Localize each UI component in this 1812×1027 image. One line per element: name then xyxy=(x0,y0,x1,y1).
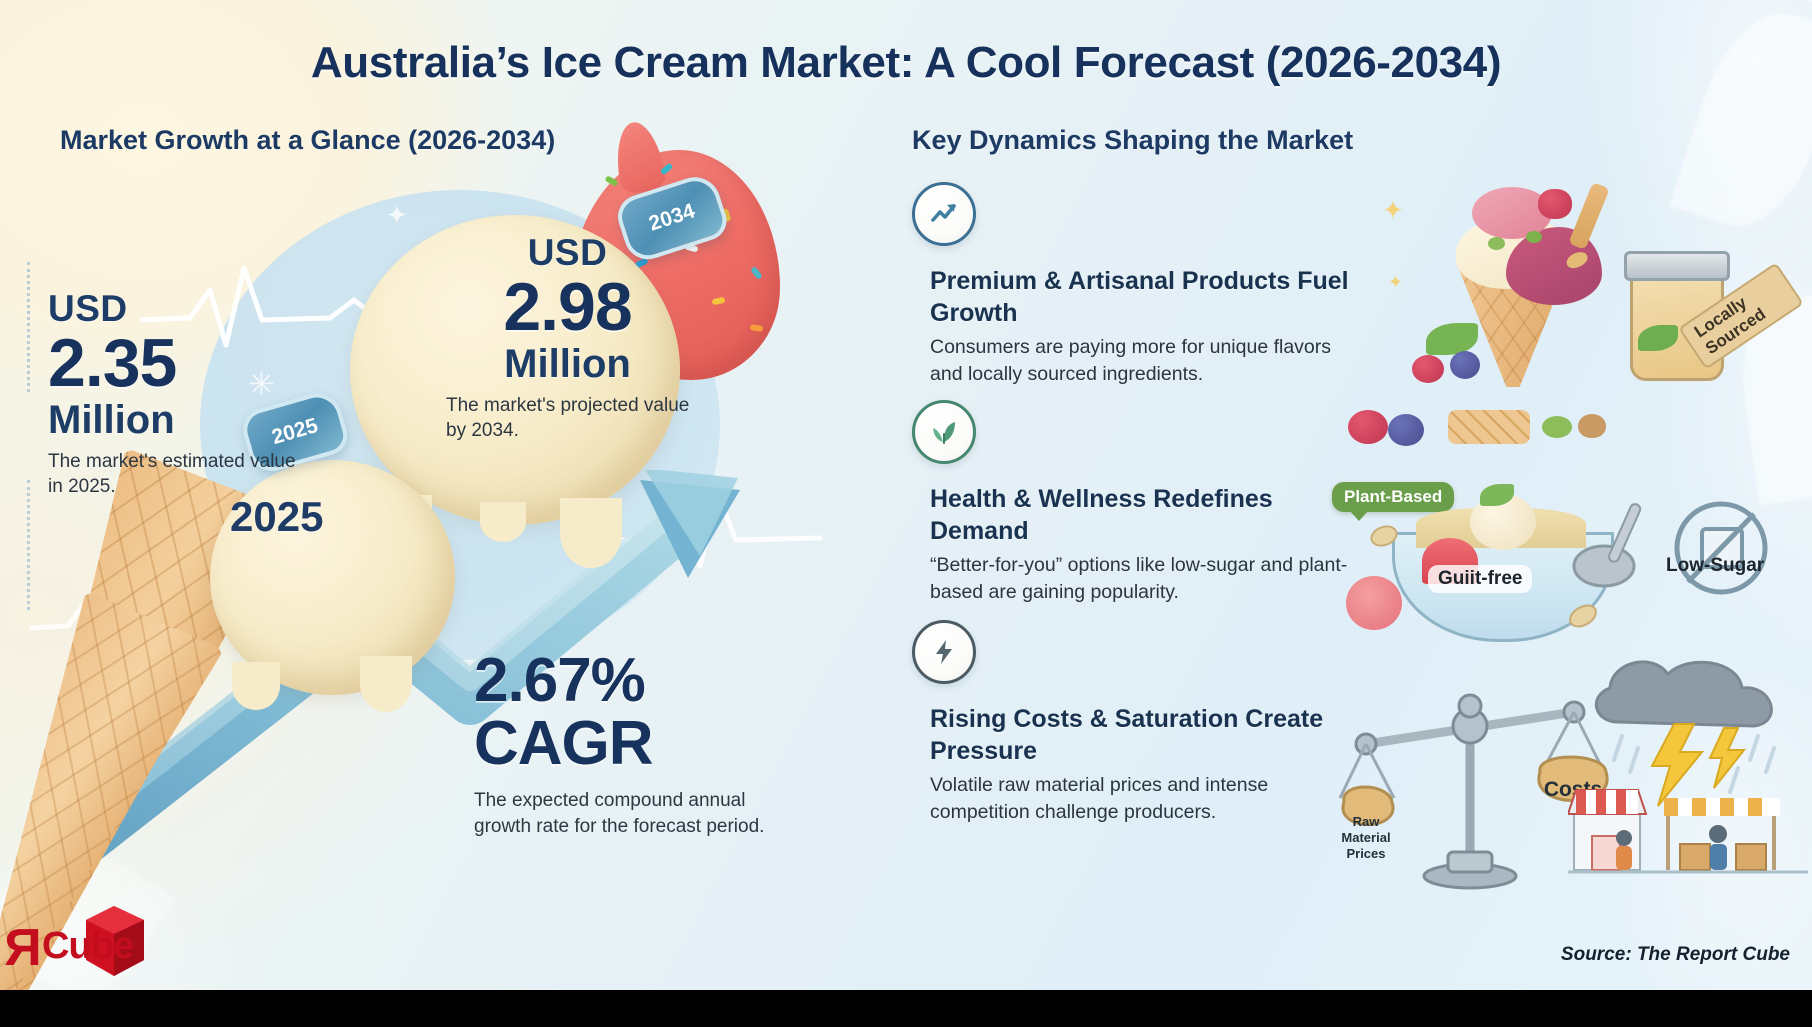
dotted-connector xyxy=(27,480,30,610)
dynamic-title-3: Rising Costs & Saturation Create Pressur… xyxy=(930,704,1350,767)
stat-unit-2025: Million xyxy=(48,397,308,443)
year-label-2025: 2025 xyxy=(230,493,323,541)
dynamic-body-3: Volatile raw material prices and intense… xyxy=(930,772,1350,825)
berry-blueberry xyxy=(1450,351,1480,379)
illustration-health: Plant-Based Guiit-free Low-Sugar xyxy=(1330,410,1800,640)
right-section-heading: Key Dynamics Shaping the Market xyxy=(912,123,1532,159)
stat-caption-2025: The market's estimated value in 2025. xyxy=(48,449,308,500)
svg-text:Raw: Raw xyxy=(1353,814,1381,829)
berry-blueberry xyxy=(1388,414,1424,446)
illustration-tag-plant-based: Plant-Based xyxy=(1332,482,1454,512)
cream-drip xyxy=(480,502,526,542)
stat-block-2034: USD 2.98 Million The market's projected … xyxy=(440,232,695,443)
stat-value-2034: 2.98 xyxy=(440,274,695,341)
illustration-label-low-sugar: Low-Sugar xyxy=(1656,552,1774,580)
almond-bit xyxy=(1578,414,1606,438)
stat-currency-2034: USD xyxy=(440,232,695,274)
bottom-black-bar xyxy=(0,990,1812,1027)
waffle-piece xyxy=(1448,410,1530,444)
dynamic-title-1: Premium & Artisanal Products Fuel Growth xyxy=(930,266,1350,329)
infographic-canvas: Australia’s Ice Cream Market: A Cool For… xyxy=(0,0,1812,1027)
illustration-costs: Costs Raw Material Prices xyxy=(1330,640,1800,890)
logo-mark: R xyxy=(4,918,42,978)
leaf-garnish xyxy=(1426,323,1478,355)
illustration-premium: ✦ ✦ Locally Sourced xyxy=(1330,175,1800,395)
svg-text:Material: Material xyxy=(1341,830,1390,845)
cream-drip xyxy=(560,498,622,568)
cream-drip xyxy=(232,662,280,710)
market-stalls-icon xyxy=(1568,758,1808,888)
stat-block-2025: USD 2.35 Million The market's estimated … xyxy=(48,288,308,499)
pistachio-bit xyxy=(1526,231,1542,243)
berry-raspberry xyxy=(1348,410,1388,444)
wafer-stick xyxy=(1568,182,1609,250)
cagr-value: 2.67% xyxy=(474,650,804,712)
cagr-caption: The expected compound annual growth rate… xyxy=(474,788,804,839)
dynamic-body-1: Consumers are paying more for unique fla… xyxy=(930,334,1350,387)
lightning-bolt-icon xyxy=(912,620,976,684)
illustration-label-guilt-free: Guiit-free xyxy=(1428,565,1532,593)
sparkle-icon: ✦ xyxy=(1382,197,1404,223)
dotted-connector xyxy=(27,262,30,392)
cagr-label: CAGR xyxy=(474,712,804,776)
logo-text: Cube xyxy=(42,925,133,968)
source-credit: Source: The Report Cube xyxy=(1561,944,1790,966)
stat-caption-2034: The market's projected value by 2034. xyxy=(440,393,695,444)
sparkle-icon: ✦ xyxy=(1388,273,1403,291)
cream-drip xyxy=(360,656,412,712)
dynamic-body-2: “Better-for-you” options like low-sugar … xyxy=(930,552,1350,605)
jar-lid xyxy=(1624,251,1730,281)
berry-raspberry xyxy=(1538,189,1572,219)
no-sugar-icon xyxy=(1666,496,1776,606)
pistachio-bit xyxy=(1542,416,1572,438)
pistachio-bit xyxy=(1488,237,1505,250)
stat-unit-2034: Million xyxy=(440,341,695,387)
stat-value-2025: 2.35 xyxy=(48,330,308,397)
leaf-icon xyxy=(912,400,976,464)
page-title: Australia’s Ice Cream Market: A Cool For… xyxy=(0,38,1812,88)
trend-up-icon xyxy=(912,182,976,246)
grapefruit-slice xyxy=(1346,576,1402,630)
stat-currency-2025: USD xyxy=(48,288,308,330)
svg-text:Prices: Prices xyxy=(1346,846,1385,861)
stat-block-cagr: 2.67% CAGR The expected compound annual … xyxy=(474,650,804,840)
berry-raspberry xyxy=(1412,355,1444,383)
dynamic-title-2: Health & Wellness Redefines Demand xyxy=(930,484,1350,547)
